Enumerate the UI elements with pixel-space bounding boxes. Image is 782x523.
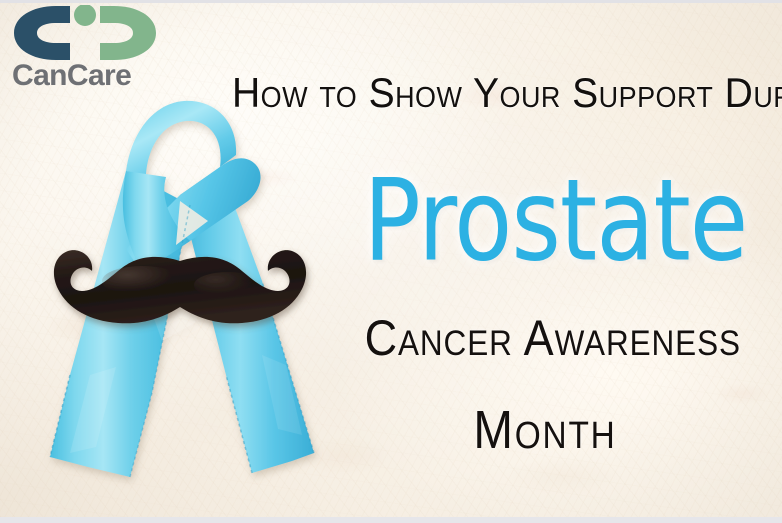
- ribbon-mustache-svg: [30, 75, 330, 523]
- awareness-ribbon-artwork: [30, 75, 330, 523]
- logo-right-shape: [100, 6, 156, 60]
- title-line-month: Month: [413, 399, 677, 461]
- poster-canvas: CanCare How to Show Your Support During …: [0, 0, 782, 523]
- headline-text: How to Show Your Support During: [232, 69, 742, 123]
- cancare-wordmark: CanCare: [12, 59, 131, 93]
- cancare-logo-mark: [10, 5, 160, 61]
- cancare-logo[interactable]: CanCare: [4, 3, 172, 103]
- logo-left-shape: [14, 6, 70, 60]
- logo-dot: [74, 5, 96, 26]
- title-line-cancer-awareness: Cancer Awareness: [365, 309, 718, 367]
- title-emphasis-prostate: Prostate: [363, 155, 716, 287]
- mustache-sheen-2: [194, 272, 262, 298]
- mustache-sheen: [102, 266, 182, 296]
